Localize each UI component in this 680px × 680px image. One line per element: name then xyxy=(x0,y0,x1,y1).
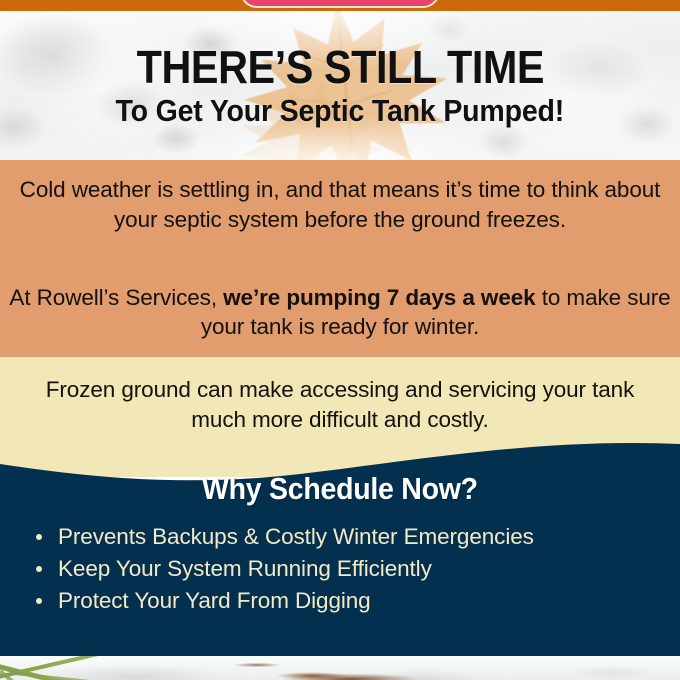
paragraph-2-prefix: At Rowell’s Services, xyxy=(9,285,223,310)
headline-primary: THERE’S STILL TIME xyxy=(136,44,543,91)
body-paragraph-1: Cold weather is settling in, and that me… xyxy=(8,175,672,234)
why-schedule-now-heading: Why Schedule Now? xyxy=(202,470,478,507)
body-paragraph-2: At Rowell’s Services, we’re pumping 7 da… xyxy=(8,283,672,342)
bullet-dot-icon xyxy=(36,566,42,572)
navy-content-block: Why Schedule Now? Prevents Backups & Cos… xyxy=(0,470,680,617)
bottom-snow-photo xyxy=(0,656,680,680)
list-item: Keep Your System Running Efficiently xyxy=(28,553,680,585)
list-item-label: Protect Your Yard From Digging xyxy=(58,588,371,613)
header-hero: THERE’S STILL TIME To Get Your Septic Ta… xyxy=(0,11,680,160)
septic-pumping-promo-flyer: THERE’S STILL TIME To Get Your Septic Ta… xyxy=(0,0,680,680)
list-item: Protect Your Yard From Digging xyxy=(28,585,680,617)
list-item: Prevents Backups & Costly Winter Emergen… xyxy=(28,521,680,553)
cta-pill-button[interactable] xyxy=(240,0,440,8)
top-orange-bar xyxy=(0,0,680,11)
benefits-list: Prevents Backups & Costly Winter Emergen… xyxy=(0,521,680,617)
list-item-label: Keep Your System Running Efficiently xyxy=(58,556,432,581)
header-text-block: THERE’S STILL TIME To Get Your Septic Ta… xyxy=(0,11,680,160)
list-item-label: Prevents Backups & Costly Winter Emergen… xyxy=(58,524,534,549)
bottom-debris-patch xyxy=(255,668,445,680)
bullet-dot-icon xyxy=(36,534,42,540)
orange-body-section: Cold weather is settling in, and that me… xyxy=(0,160,680,357)
cream-paragraph: Frozen ground can make accessing and ser… xyxy=(0,375,680,435)
headline-secondary: To Get Your Septic Tank Pumped! xyxy=(116,95,565,128)
paragraph-2-bold-highlight: we’re pumping 7 days a week xyxy=(223,285,535,310)
bullet-dot-icon xyxy=(36,598,42,604)
